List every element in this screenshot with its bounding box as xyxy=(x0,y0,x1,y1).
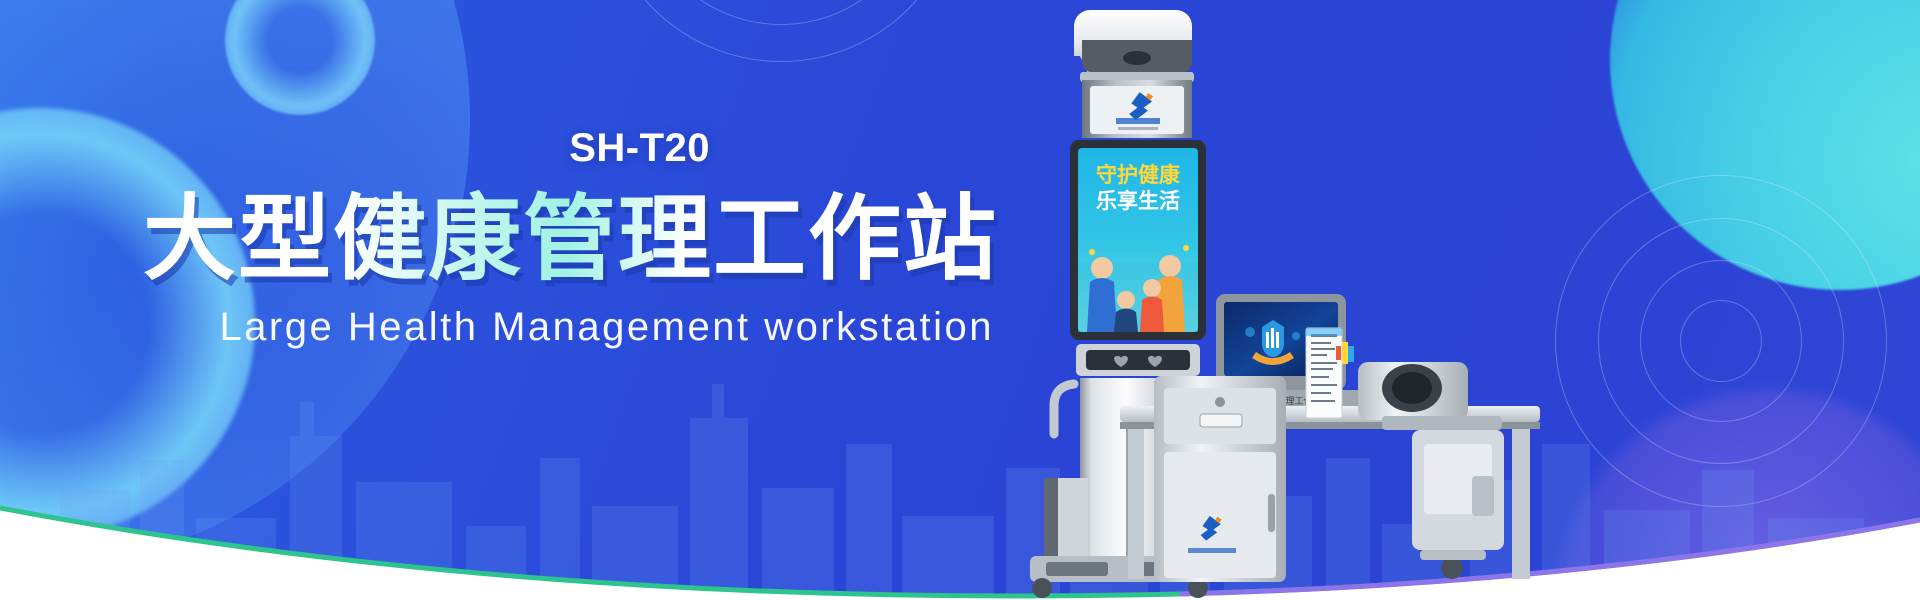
kiosk-sensor-head xyxy=(1074,10,1194,82)
desk-leg-left xyxy=(1128,429,1144,579)
bottom-white-wave xyxy=(0,380,1920,600)
product-banner: SH-T20 大型健康管理工作站 Large Health Management… xyxy=(0,0,1920,600)
subheadline-english: Large Health Management workstation xyxy=(0,305,1010,349)
poster-line1: 守护健康 xyxy=(1096,163,1181,187)
decor-blob-right-cyan xyxy=(1610,0,1920,290)
sonar-rings-right xyxy=(1720,340,1721,341)
city-skyline-silhouette xyxy=(0,340,1920,600)
printed-report-slip xyxy=(1306,328,1342,418)
decor-blob-bottom-right xyxy=(1560,390,1920,600)
model-code: SH-T20 xyxy=(0,128,1010,168)
poster-line2: 乐享生活 xyxy=(1096,189,1180,213)
kiosk-upper-column xyxy=(1082,80,1192,138)
banner-copy: SH-T20 大型健康管理工作站 Large Health Management… xyxy=(0,128,1010,349)
decor-blob-small-top xyxy=(225,0,375,115)
headline-chinese: 大型健康管理工作站 xyxy=(0,190,1010,289)
desk-cabinet xyxy=(1154,376,1286,582)
analyzer-unit xyxy=(1358,362,1504,579)
workstation-desk: 智能健康管理工作站 xyxy=(1120,276,1540,596)
desk-leg-right xyxy=(1512,429,1530,579)
